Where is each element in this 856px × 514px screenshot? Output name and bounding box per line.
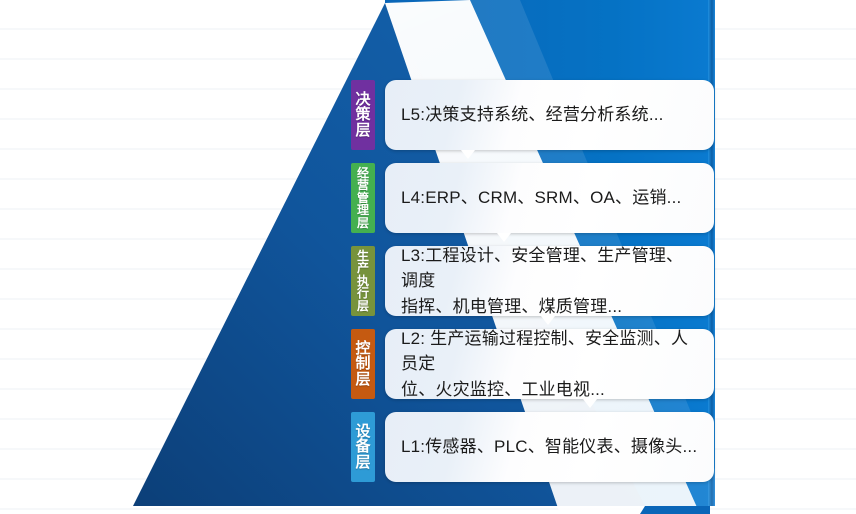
level-tag-L3: 生 产 执 行 层 xyxy=(351,246,375,316)
level-card-text-L5: L5:决策支持系统、经营分析系统... xyxy=(385,102,678,128)
level-card-L2[interactable]: L2: 生产运输过程控制、安全监测、人员定 位、火灾监控、工业电视... xyxy=(385,329,714,399)
level-tag-char: 设 xyxy=(355,424,370,440)
level-rows: 决 策 层 L5:决策支持系统、经营分析系统... 经 营 管 理 层 L4:E… xyxy=(0,0,856,514)
level-card-L5[interactable]: L5:决策支持系统、经营分析系统... xyxy=(385,80,714,150)
level-tag-char: 备 xyxy=(355,439,370,455)
beam-notch-2 xyxy=(497,233,511,242)
pyramid-diagram-canvas: 决 策 层 L5:决策支持系统、经营分析系统... 经 营 管 理 层 L4:E… xyxy=(0,0,856,514)
level-row-L5[interactable]: 决 策 层 L5:决策支持系统、经营分析系统... xyxy=(351,80,714,150)
level-tag-char: 策 xyxy=(355,107,370,123)
level-tag-char: 层 xyxy=(355,372,370,388)
level-tag-char: 层 xyxy=(357,217,369,229)
beam-notch-3 xyxy=(541,316,555,325)
level-card-text-L3: L3:工程设计、安全管理、生产管理、调度 指挥、机电管理、煤质管理... xyxy=(385,246,714,316)
level-tag-L5: 决 策 层 xyxy=(351,80,375,150)
level-card-text-L1: L1:传感器、PLC、智能仪表、摄像头... xyxy=(385,434,711,460)
level-tag-char: 行 xyxy=(357,287,369,299)
level-tag-L2: 控 制 层 xyxy=(351,329,375,399)
level-tag-char: 产 xyxy=(357,262,369,274)
level-card-L3[interactable]: L3:工程设计、安全管理、生产管理、调度 指挥、机电管理、煤质管理... xyxy=(385,246,714,316)
level-tag-char: 决 xyxy=(355,92,370,108)
level-tag-char: 层 xyxy=(355,455,370,471)
level-row-L1[interactable]: 设 备 层 L1:传感器、PLC、智能仪表、摄像头... xyxy=(351,412,714,482)
level-card-text-L2: L2: 生产运输过程控制、安全监测、人员定 位、火灾监控、工业电视... xyxy=(385,329,714,399)
level-tag-char: 控 xyxy=(355,341,370,357)
level-tag-char: 层 xyxy=(355,123,370,139)
beam-notch-1 xyxy=(461,150,475,159)
level-row-L4[interactable]: 经 营 管 理 层 L4:ERP、CRM、SRM、OA、运销... xyxy=(351,163,714,233)
level-tag-L1: 设 备 层 xyxy=(351,412,375,482)
level-row-L2[interactable]: 控 制 层 L2: 生产运输过程控制、安全监测、人员定 位、火灾监控、工业电视.… xyxy=(351,329,714,399)
level-tag-char: 制 xyxy=(355,356,370,372)
level-card-text-L4: L4:ERP、CRM、SRM、OA、运销... xyxy=(385,185,695,211)
level-tag-L4: 经 营 管 理 层 xyxy=(351,163,375,233)
level-tag-char: 层 xyxy=(357,300,369,312)
level-tag-char: 营 xyxy=(357,179,369,191)
level-row-L3[interactable]: 生 产 执 行 层 L3:工程设计、安全管理、生产管理、调度 指挥、机电管理、煤… xyxy=(351,246,714,316)
level-tag-char: 理 xyxy=(357,204,369,216)
beam-notch-4 xyxy=(583,399,597,408)
level-card-L1[interactable]: L1:传感器、PLC、智能仪表、摄像头... xyxy=(385,412,714,482)
level-card-L4[interactable]: L4:ERP、CRM、SRM、OA、运销... xyxy=(385,163,714,233)
